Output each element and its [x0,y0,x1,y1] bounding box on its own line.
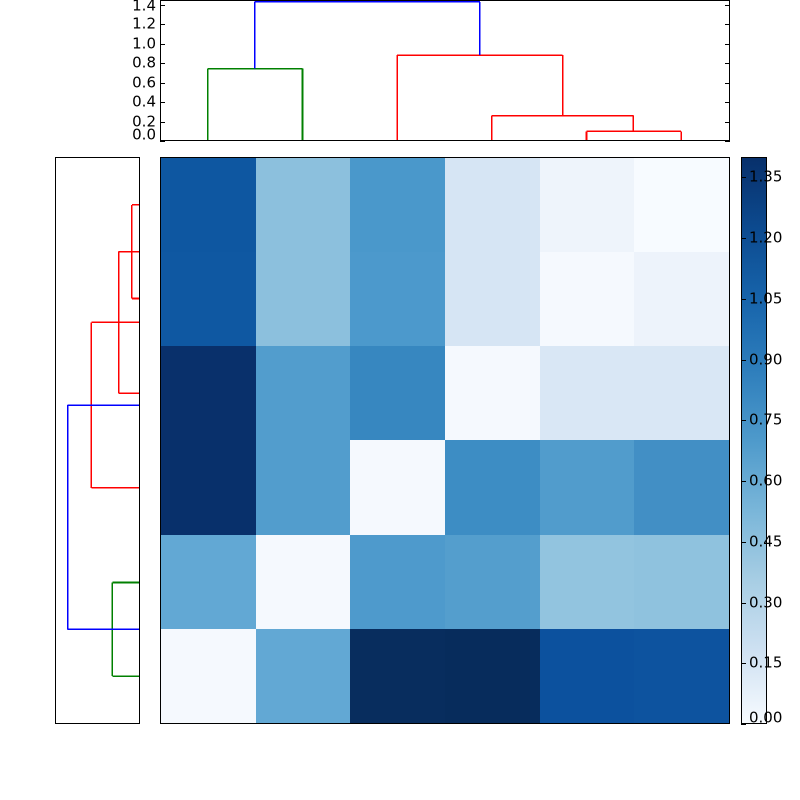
y-tick-label: 1.2 [132,17,156,32]
y-tick-label: 0.6 [132,75,156,90]
colorbar-tick-mark [741,724,746,725]
heatmap-cell [634,535,729,629]
y-tick-mark [160,141,165,142]
heatmap-cell [634,629,729,723]
heatmap-cell [634,440,729,534]
y-tick-label: 0.4 [132,95,156,110]
heatmap-cell [540,346,635,440]
heatmap-cell [445,346,540,440]
heatmap-cell [540,440,635,534]
colorbar-axes [741,157,767,724]
heatmap-cell [445,535,540,629]
heatmap-cell [161,346,256,440]
column-dendrogram-plot [161,1,729,140]
y-tick-mark [725,141,730,142]
heatmap-cell [161,158,256,252]
colorbar-gradient [742,158,766,723]
row-dendrogram-plot [56,158,139,723]
heatmap-cell [161,252,256,346]
heatmap-cell [256,158,351,252]
y-tick-label: 0.2 [132,114,156,129]
clustermap-figure: 0.00.20.40.60.81.01.21.4 0.000.150.300.4… [0,0,800,800]
heatmap-axes [160,157,730,724]
heatmap-cell [256,629,351,723]
heatmap-cell [161,535,256,629]
y-tick-label: 1.4 [132,0,156,14]
heatmap-cell [256,346,351,440]
heatmap-cell [350,158,445,252]
heatmap-cell [634,346,729,440]
heatmap-cell [445,440,540,534]
column-dendrogram-y-axis: 0.00.20.40.60.81.01.21.4 [120,0,156,141]
heatmap-cell [350,535,445,629]
heatmap-cell [634,252,729,346]
heatmap-cell [540,158,635,252]
heatmap-cell [634,158,729,252]
y-tick-label: 0.8 [132,56,156,71]
heatmap-cell [350,346,445,440]
heatmap-grid [161,158,729,723]
y-tick-label: 1.0 [132,36,156,51]
heatmap-cell [350,629,445,723]
heatmap-cell [256,440,351,534]
heatmap-cell [350,440,445,534]
heatmap-cell [445,252,540,346]
heatmap-cell [540,252,635,346]
heatmap-cell [445,158,540,252]
row-dendrogram-axes [55,157,140,724]
heatmap-cell [161,629,256,723]
heatmap-cell [161,440,256,534]
heatmap-cell [540,535,635,629]
heatmap-cell [256,535,351,629]
heatmap-cell [350,252,445,346]
heatmap-cell [256,252,351,346]
column-dendrogram-axes [160,0,730,141]
heatmap-cell [445,629,540,723]
heatmap-cell [540,629,635,723]
